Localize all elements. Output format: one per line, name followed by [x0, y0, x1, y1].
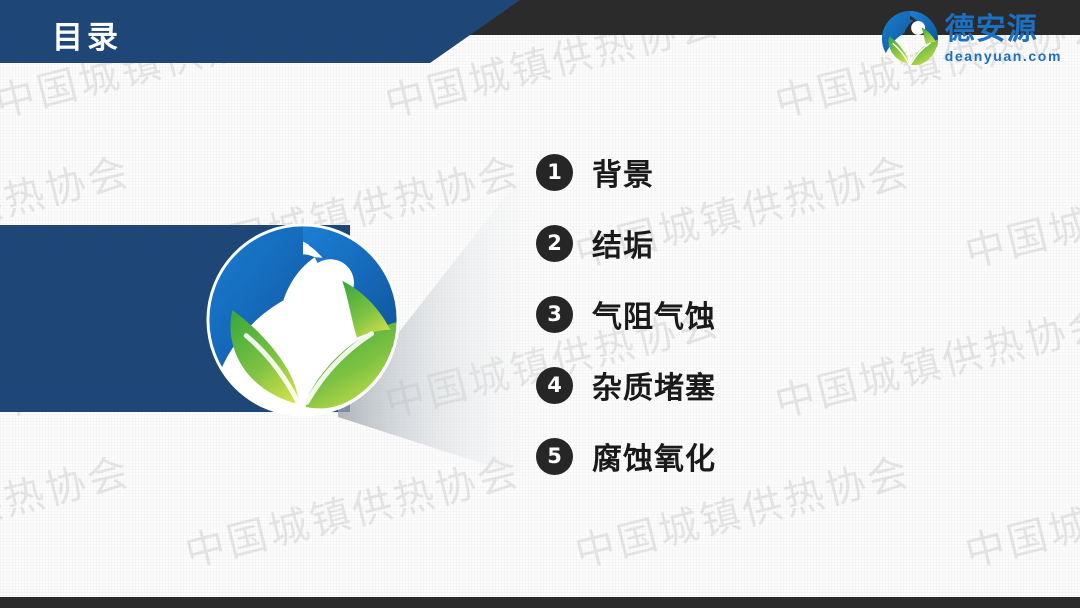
agenda-number-badge: 1: [536, 154, 573, 191]
corporate-logo-text: 德安源 deanyuan.com: [945, 15, 1062, 63]
company-emblem-icon-small: [881, 10, 939, 68]
agenda-item-4[interactable]: 4 杂质堵塞: [536, 361, 716, 409]
footer-dark-strip: [0, 597, 1080, 608]
corporate-logo: 德安源 deanyuan.com: [881, 8, 1062, 70]
presentation-slide: 中国城镇供热协会 中国城镇供热协会 中国城镇供热协会 中国城镇供热协会 中国城镇…: [0, 0, 1080, 608]
agenda-number-badge: 5: [536, 438, 573, 475]
agenda-item-label: 气阻气蚀: [592, 292, 716, 336]
agenda-list: 1 背景 2 结垢 3 气阻气蚀 4 杂质堵塞 5 腐蚀氧化: [536, 148, 716, 480]
agenda-item-label: 杂质堵塞: [592, 363, 716, 407]
agenda-item-2[interactable]: 2 结垢: [536, 219, 716, 267]
watermark-text: 中国城镇供热协会: [958, 139, 1080, 278]
agenda-number-badge: 2: [536, 225, 573, 262]
agenda-item-3[interactable]: 3 气阻气蚀: [536, 290, 716, 338]
agenda-number-badge: 4: [536, 367, 573, 404]
agenda-item-label: 腐蚀氧化: [592, 434, 716, 478]
watermark-text: 中国城镇供热协会: [958, 439, 1080, 578]
agenda-number-badge: 3: [536, 296, 573, 333]
watermark-text: 中国城镇供热协会: [768, 289, 1080, 428]
company-name: 德安源: [945, 15, 1062, 45]
watermark-text: 中国城镇供热协会: [0, 439, 136, 578]
company-website: deanyuan.com: [945, 49, 1062, 63]
page-title: 目录: [52, 12, 122, 57]
agenda-item-1[interactable]: 1 背景: [536, 148, 716, 196]
agenda-item-label: 背景: [592, 150, 654, 194]
agenda-item-label: 结垢: [592, 221, 654, 265]
agenda-item-5[interactable]: 5 腐蚀氧化: [536, 432, 716, 480]
company-emblem-icon: [205, 222, 401, 418]
